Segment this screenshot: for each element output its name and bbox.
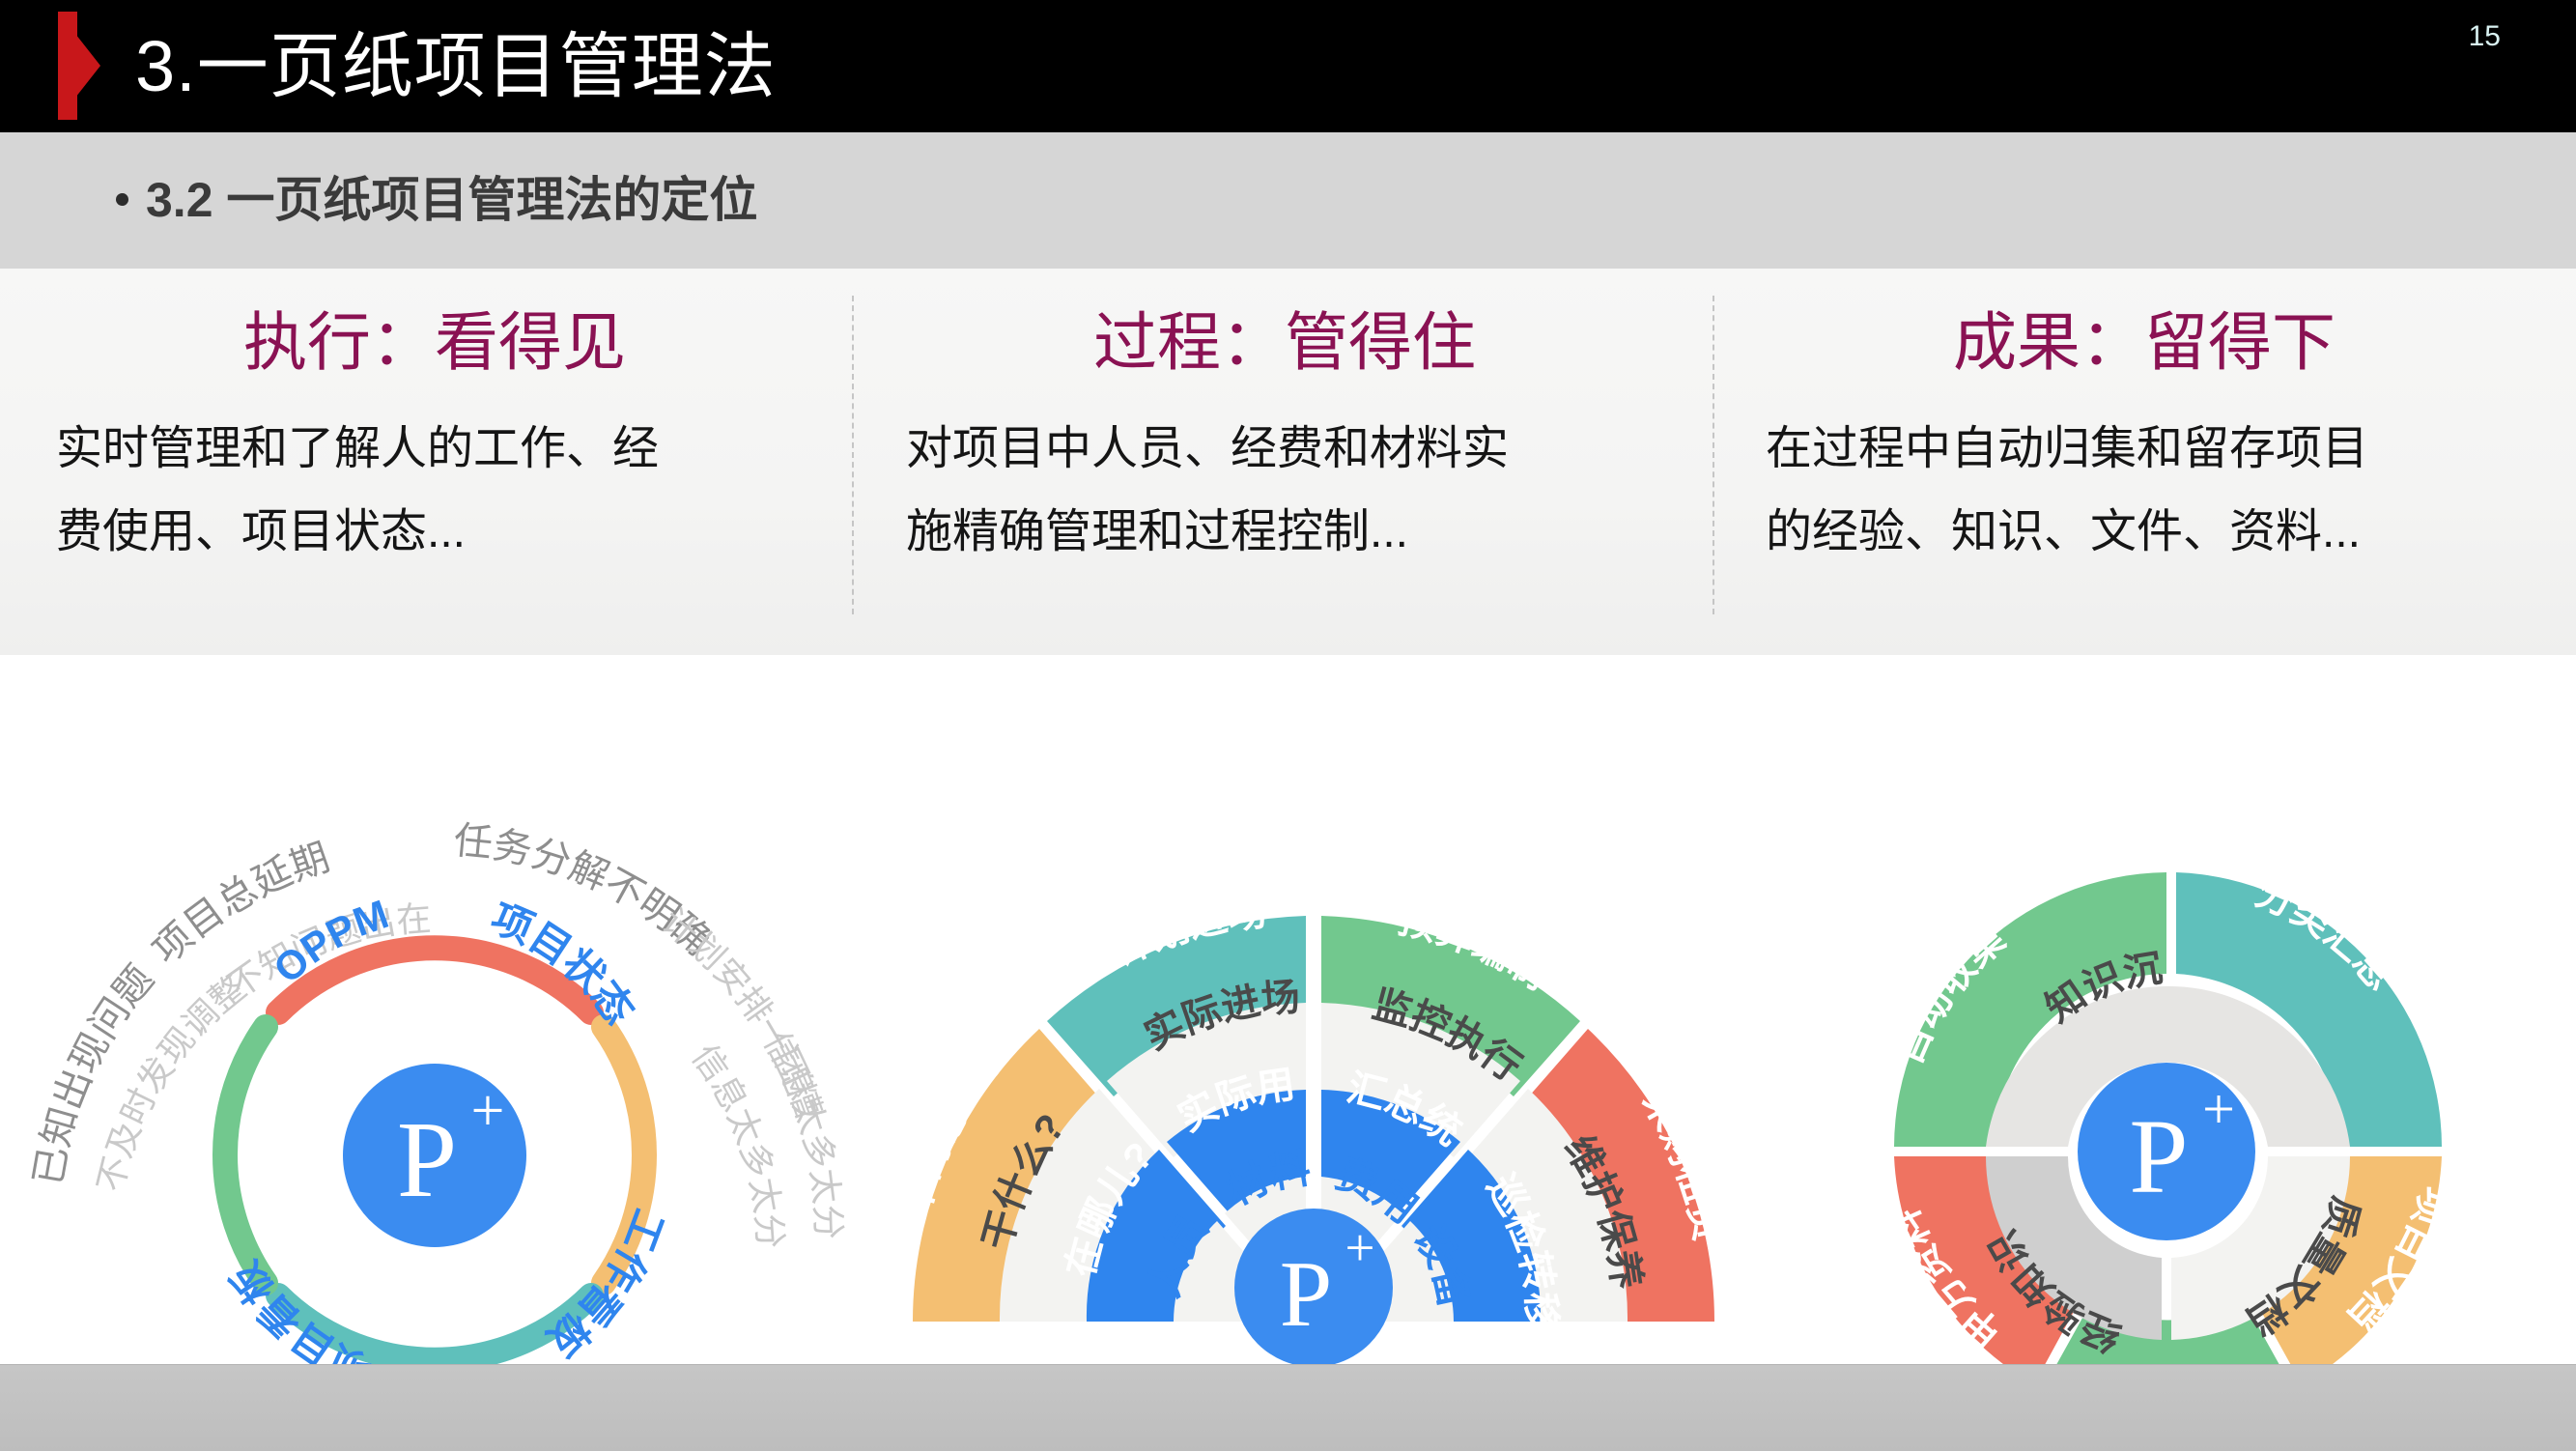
diagram-results-donut: 自动收集 分类汇总 项目文档 工程图纸 甲方资料 知识沉淀 质量文档 经验知识 … [1758, 655, 2576, 1364]
page-title: 3.一页纸项目管理法 [135, 2, 777, 131]
badge-superscript: + [471, 1078, 505, 1144]
definition-heading: 执行：看得见 [19, 288, 850, 396]
definition-body-line: 对项目中人员、经费和材料实 [906, 408, 1681, 491]
definition-heading: 过程：管得住 [869, 288, 1700, 396]
column-divider [852, 296, 854, 614]
badge-letter: P [1280, 1242, 1333, 1347]
subtitle-row: 3.2 一页纸项目管理法的定位 [116, 154, 757, 246]
badge-letter: P [2129, 1097, 2188, 1215]
diagram-band: 已知出现问题 项目总延期 任务分解不明确 计划安排一团糟 信息太多太分散 不及时… [0, 655, 2576, 1364]
definition-body-line: 实时管理和了解人的工作、经 [56, 408, 831, 491]
definition-band: 执行：看得见 实时管理和了解人的工作、经 费使用、项目状态... 过程：管得住 … [0, 269, 2576, 655]
column-divider [1713, 296, 1714, 614]
definition-body-line: 施精确管理和过程控制... [906, 491, 1681, 574]
center-badge: P + [2078, 1063, 2255, 1240]
page-number: 15 [2469, 17, 2501, 56]
slide-subtitle-bar: 3.2 一页纸项目管理法的定位 [0, 132, 2576, 269]
badge-superscript: + [2202, 1077, 2235, 1141]
definition-body: 对项目中人员、经费和材料实 施精确管理和过程控制... [869, 408, 1700, 574]
definition-body: 在过程中自动归集和留存项目 的经验、知识、文件、资料... [1729, 408, 2560, 574]
diagram-execution-ring: 已知出现问题 项目总延期 任务分解不明确 计划安排一团糟 信息太多太分散 不及时… [0, 655, 869, 1364]
center-badge: P + [343, 1064, 526, 1247]
definition-column-process: 过程：管得住 对项目中人员、经费和材料实 施精确管理和过程控制... [869, 269, 1700, 655]
ring-label-work-board: 工作看板 [539, 1204, 672, 1364]
slide-footer-band [0, 1364, 2576, 1451]
definition-column-execution: 执行：看得见 实时管理和了解人的工作、经 费使用、项目状态... [19, 269, 850, 655]
center-badge: P + [1234, 1209, 1393, 1364]
definition-column-results: 成果：留得下 在过程中自动归集和留存项目 的经验、知识、文件、资料... [1729, 269, 2560, 655]
definition-body-line: 费使用、项目状态... [56, 491, 831, 574]
ring-arc-project-board [225, 1027, 266, 1283]
ring-label-project-board: 项目看板 [222, 1253, 378, 1364]
slide-title-bar: 3.一页纸项目管理法 15 [0, 0, 2576, 132]
definition-body: 实时管理和了解人的工作、经 费使用、项目状态... [19, 408, 850, 574]
bullet-icon [116, 193, 128, 206]
definition-body-line: 的经验、知识、文件、资料... [1766, 491, 2540, 574]
red-arrow-icon [58, 12, 100, 120]
subtitle-label: 3.2 一页纸项目管理法的定位 [146, 173, 757, 227]
badge-letter: P [397, 1100, 457, 1220]
badge-superscript: + [1345, 1218, 1374, 1277]
definition-body-line: 在过程中自动归集和留存项目 [1766, 408, 2540, 491]
diagram-process-fan: 干的怎么样? 计划进场 预算编制 采购租赁 干什么? 实际进场 监控执行 维护保… [869, 655, 1758, 1364]
definition-heading: 成果：留得下 [1729, 288, 2560, 396]
